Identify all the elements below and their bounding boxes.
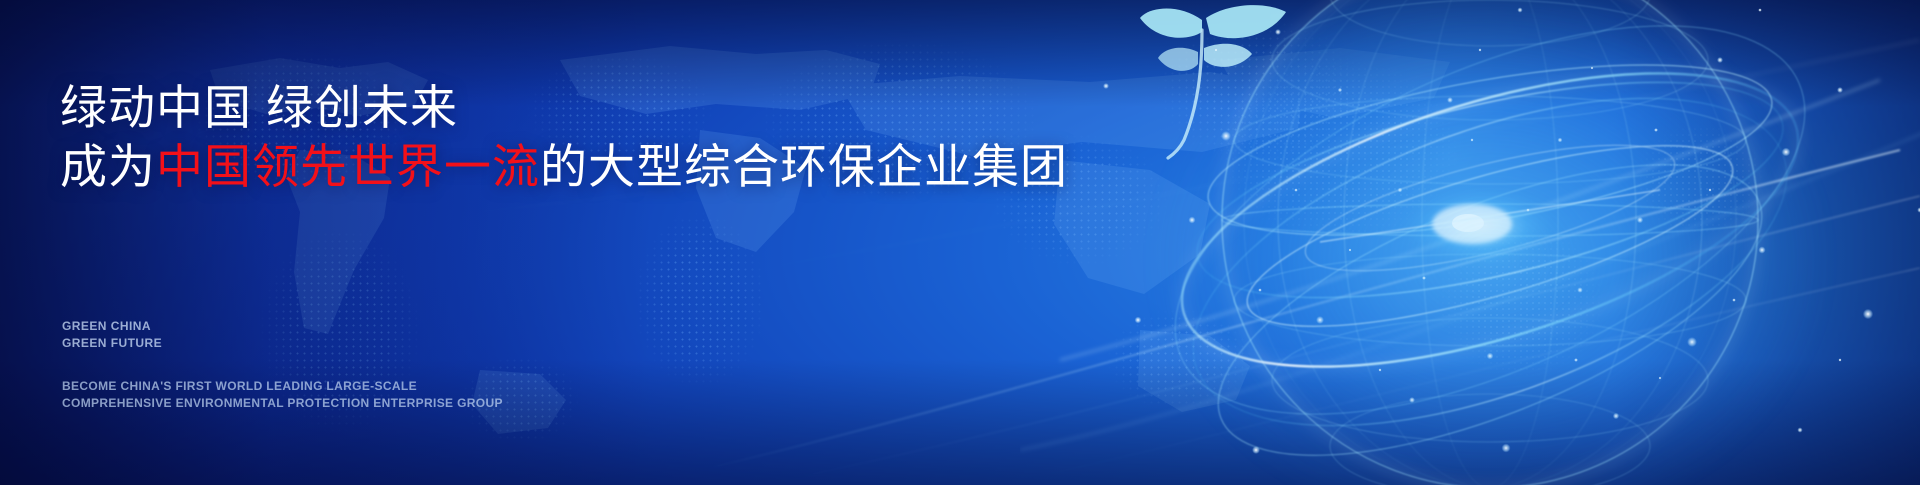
tagline-line-1: BECOME CHINA'S FIRST WORLD LEADING LARGE… — [62, 378, 503, 395]
subtitle-line-1: GREEN CHINA — [62, 318, 162, 335]
subtitle-line-2: GREEN FUTURE — [62, 335, 162, 352]
headline-line-2: 成为中国领先世界一流的大型综合环保企业集团 — [60, 137, 1068, 196]
text-content: 绿动中国 绿创未来 成为中国领先世界一流的大型综合环保企业集团 GREEN CH… — [60, 0, 1060, 485]
headline-highlight: 中国领先世界一流 — [156, 140, 540, 193]
hero-banner: 绿动中国 绿创未来 成为中国领先世界一流的大型综合环保企业集团 GREEN CH… — [0, 0, 1920, 485]
page-title: 绿动中国 绿创未来 成为中国领先世界一流的大型综合环保企业集团 — [60, 78, 1068, 196]
globe-halo — [1140, 0, 1840, 485]
tagline-line-2: COMPREHENSIVE ENVIRONMENTAL PROTECTION E… — [62, 395, 503, 412]
headline-prefix: 成为 — [60, 140, 156, 193]
globe-graphic — [1020, 0, 1920, 485]
subtitle-english: GREEN CHINA GREEN FUTURE — [62, 318, 162, 353]
headline-line-1: 绿动中国 绿创未来 — [60, 81, 458, 134]
tagline-english: BECOME CHINA'S FIRST WORLD LEADING LARGE… — [62, 378, 503, 412]
headline-suffix: 的大型综合环保企业集团 — [540, 140, 1068, 193]
